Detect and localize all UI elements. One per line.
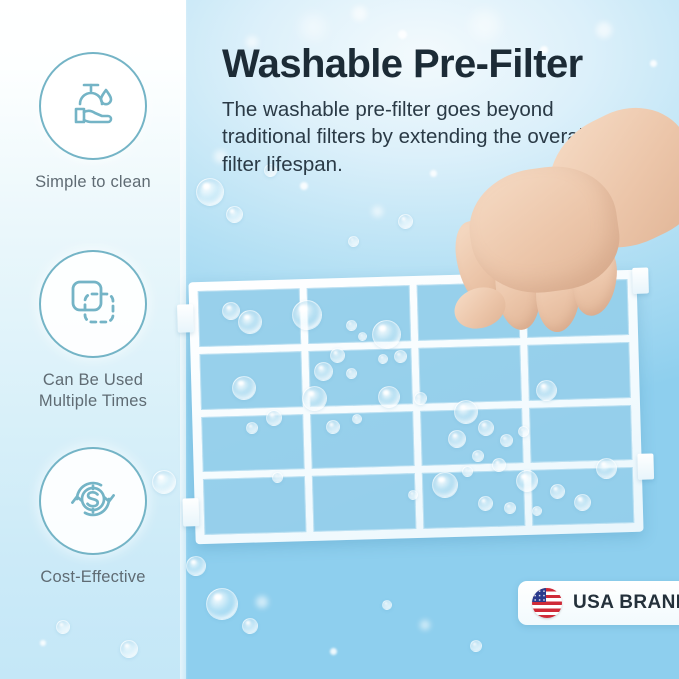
usa-flag-icon	[532, 588, 562, 618]
filter-cell	[418, 345, 522, 404]
filter-cell	[312, 473, 416, 532]
feature-can-be-used-multiple-times: Can Be UsedMultiple Times	[0, 250, 186, 412]
filter-cell	[310, 411, 414, 470]
feature-icon-circle	[39, 447, 147, 555]
feature-label: Cost-Effective	[0, 567, 186, 588]
feature-label: Simple to clean	[0, 172, 186, 193]
feature-simple-to-clean: Simple to clean	[0, 52, 186, 193]
feature-cost-effective: Cost-Effective	[0, 447, 186, 588]
feature-icon-circle	[39, 250, 147, 358]
usa-brand-label: USA BRAND	[573, 592, 679, 614]
filter-cell	[203, 476, 307, 535]
duplicate-squares-icon	[64, 273, 122, 336]
dollar-recycle-icon	[63, 469, 123, 534]
feature-label: Can Be UsedMultiple Times	[0, 370, 186, 412]
infographic-canvas: Washable Pre-Filter The washable pre-fil…	[0, 0, 679, 679]
hand-holding-filter	[420, 120, 679, 330]
hand-washing-icon	[62, 73, 124, 140]
filter-tab-right-bottom	[637, 453, 654, 479]
filter-tab-left-top	[177, 304, 194, 332]
feature-icon-circle	[39, 52, 147, 160]
filter-cell	[529, 404, 633, 463]
status-badge: USA BRAND	[518, 581, 679, 625]
filter-tab-left-bottom	[182, 498, 199, 526]
page-title: Washable Pre-Filter	[222, 44, 670, 84]
